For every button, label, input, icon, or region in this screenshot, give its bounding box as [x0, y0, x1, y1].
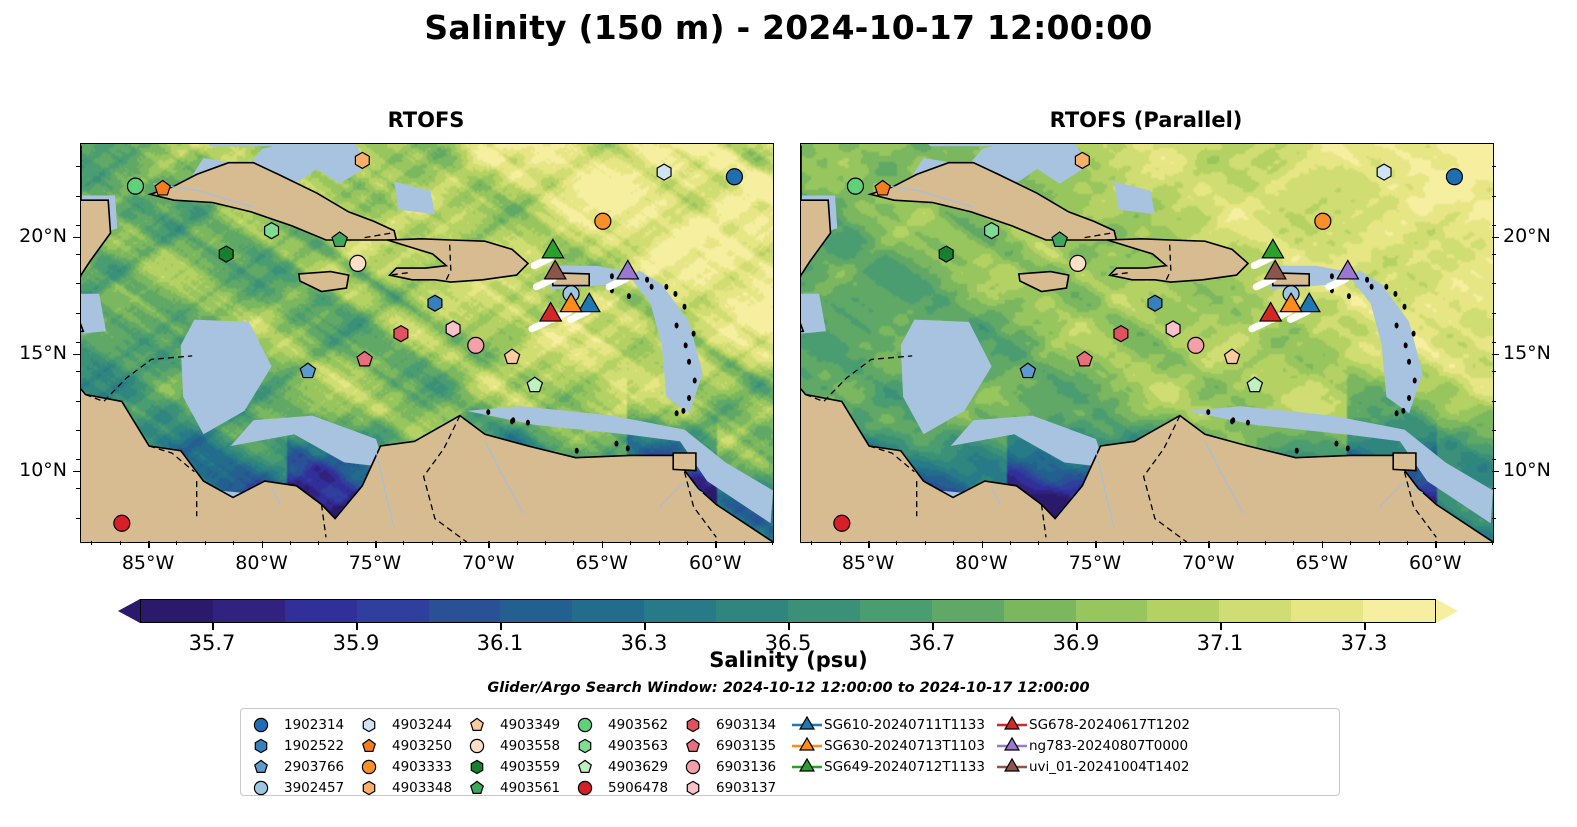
- legend-column-2: 4903349490355849035594903561: [466, 716, 574, 790]
- legend-label: 4903563: [608, 738, 668, 754]
- y-minor-tick: [76, 371, 80, 372]
- x-minor-tick: [982, 541, 983, 545]
- legend-label: 2903766: [284, 759, 344, 775]
- y-minor-tick: [76, 225, 80, 226]
- legend-label: 4903244: [392, 717, 452, 733]
- page-title: Salinity (150 m) - 2024-10-17 12:00:00: [0, 8, 1577, 47]
- argo-float-marker[interactable]: [114, 515, 130, 531]
- legend-item[interactable]: 4903563: [574, 737, 682, 755]
- colorbar-band-3: [357, 600, 429, 622]
- search-window-caption: Glider/Argo Search Window: 2024-10-12 12…: [0, 680, 1577, 696]
- y-tick: [73, 471, 80, 473]
- x-minor-tick: [1180, 541, 1181, 545]
- colorbar-band-2: [285, 600, 357, 622]
- legend-item[interactable]: 6903134: [682, 716, 790, 734]
- x-minor-tick: [811, 541, 812, 545]
- colorbar-band-1: [213, 600, 285, 622]
- glider-track: [532, 321, 549, 329]
- colorbar[interactable]: 35.735.936.136.336.536.736.937.137.3: [118, 599, 1458, 623]
- island-marker: [692, 331, 696, 337]
- island-marker: [1295, 448, 1299, 454]
- y-minor-tick: [1492, 166, 1496, 167]
- land-polygon: [299, 272, 349, 292]
- argo-float-marker[interactable]: [595, 213, 611, 229]
- legend-label: 4903250: [392, 738, 452, 754]
- map-overlay: [801, 144, 1493, 542]
- x-minor-tick: [91, 541, 92, 545]
- argo-legend-icon: [358, 737, 392, 755]
- island-marker: [693, 377, 697, 383]
- x-tick-label: 75°W: [1069, 552, 1121, 574]
- land-polygon: [801, 146, 831, 378]
- y-tick: [73, 354, 80, 356]
- argo-legend-icon: [574, 779, 608, 797]
- argo-float-marker[interactable]: [350, 255, 366, 271]
- y-minor-tick: [76, 488, 80, 489]
- island-marker: [683, 304, 687, 310]
- x-minor-tick: [205, 541, 206, 545]
- island-marker: [1395, 322, 1399, 328]
- legend-item[interactable]: 4903348: [358, 779, 466, 797]
- y-tick-label: 15°N: [1503, 342, 1551, 364]
- argo-float-marker[interactable]: [1114, 326, 1128, 342]
- shelf-polygon: [801, 294, 826, 334]
- argo-float-marker[interactable]: [1188, 337, 1204, 353]
- y-minor-tick: [1492, 459, 1496, 460]
- island-marker: [1230, 418, 1234, 424]
- shelf-polygon: [231, 416, 385, 468]
- argo-legend-icon: [682, 758, 716, 776]
- shelf-polygon: [951, 416, 1105, 468]
- legend-item[interactable]: 4903250: [358, 737, 466, 755]
- argo-legend-icon: [358, 758, 392, 776]
- x-minor-tick: [318, 541, 319, 545]
- glider-marker[interactable]: [540, 303, 561, 321]
- argo-legend-icon: [250, 716, 284, 734]
- x-tick-label: 60°W: [689, 552, 741, 574]
- y-minor-tick: [1492, 313, 1496, 314]
- y-tick: [1492, 471, 1499, 473]
- legend-label: 6903136: [716, 759, 776, 775]
- y-minor-tick: [76, 166, 80, 167]
- legend-label: 1902314: [284, 717, 344, 733]
- x-minor-tick: [630, 541, 631, 545]
- argo-float-marker[interactable]: [875, 180, 890, 194]
- glider-marker[interactable]: [617, 260, 638, 278]
- y-tick-label: 15°N: [19, 342, 67, 364]
- x-minor-tick: [403, 541, 404, 545]
- legend-label: 4903562: [608, 717, 668, 733]
- x-minor-tick: [953, 541, 954, 545]
- x-minor-tick: [545, 541, 546, 545]
- colorbar-band-17: [1363, 600, 1435, 622]
- legend-label: SG630-20240713T1103: [824, 738, 985, 754]
- panel-title-rtofs: RTOFS: [80, 108, 772, 132]
- x-minor-tick: [896, 541, 897, 545]
- island-marker: [1407, 359, 1411, 365]
- legend-label: 4903558: [500, 738, 560, 754]
- argo-float-marker[interactable]: [394, 326, 408, 342]
- y-minor-tick: [76, 283, 80, 284]
- glider-marker[interactable]: [1299, 293, 1320, 311]
- legend-column-4: 6903134690313569031366903137: [682, 716, 790, 790]
- argo-float-marker[interactable]: [1148, 295, 1162, 311]
- island-marker: [1346, 445, 1350, 451]
- shelf-polygon: [1350, 270, 1423, 413]
- island-marker: [681, 408, 685, 414]
- argo-float-marker[interactable]: [726, 169, 742, 185]
- island-marker: [645, 277, 649, 283]
- x-tick-label: 60°W: [1409, 552, 1461, 574]
- legend-item[interactable]: SG610-20240711T1133: [790, 716, 995, 734]
- colorbar-band-15: [1219, 600, 1291, 622]
- island-marker: [1401, 408, 1405, 414]
- x-minor-tick: [1265, 541, 1266, 545]
- x-minor-tick: [1322, 541, 1323, 545]
- argo-float-marker[interactable]: [1446, 169, 1462, 185]
- legend-item[interactable]: 2903766: [250, 758, 358, 776]
- x-minor-tick: [347, 541, 348, 545]
- argo-float-marker[interactable]: [1020, 363, 1035, 377]
- y-minor-tick: [76, 342, 80, 343]
- island-marker: [614, 441, 618, 447]
- map-panel-rtofs-parallel[interactable]: [800, 143, 1494, 543]
- y-minor-tick: [76, 313, 80, 314]
- argo-float-marker[interactable]: [1377, 164, 1391, 180]
- legend-label: uvi_01-20241004T1402: [1029, 759, 1189, 775]
- colorbar-tick: [1364, 623, 1366, 630]
- land-polygon: [673, 453, 696, 471]
- island-marker: [1395, 410, 1399, 416]
- legend-label: 4903333: [392, 759, 452, 775]
- argo-float-marker[interactable]: [1166, 321, 1180, 337]
- y-minor-tick: [76, 518, 80, 519]
- argo-float-marker[interactable]: [1224, 349, 1239, 363]
- colorbar-band-11: [932, 600, 1004, 622]
- x-minor-tick: [1152, 541, 1153, 545]
- argo-legend-icon: [358, 779, 392, 797]
- argo-float-marker[interactable]: [446, 321, 460, 337]
- legend-item[interactable]: 1902314: [250, 716, 358, 734]
- legend-item[interactable]: 6903136: [682, 758, 790, 776]
- x-minor-tick: [375, 541, 376, 545]
- x-minor-tick: [659, 541, 660, 545]
- x-minor-tick: [1123, 541, 1124, 545]
- x-minor-tick: [290, 541, 291, 545]
- legend-label: 4903561: [500, 780, 560, 796]
- island-marker: [610, 273, 614, 279]
- x-minor-tick: [1010, 541, 1011, 545]
- island-marker: [1412, 331, 1416, 337]
- legend-label: SG678-20240617T1202: [1029, 717, 1190, 733]
- colorbar-tick: [500, 623, 502, 630]
- legend-item[interactable]: 4903562: [574, 716, 682, 734]
- legend-item[interactable]: 4903561: [466, 779, 574, 797]
- y-minor-tick: [76, 430, 80, 431]
- glider-legend-icon: [995, 716, 1029, 734]
- argo-float-marker[interactable]: [504, 349, 519, 363]
- x-minor-tick: [176, 541, 177, 545]
- island-marker: [1347, 293, 1351, 299]
- legend-item[interactable]: 4903244: [358, 716, 466, 734]
- glider-track: [570, 312, 587, 320]
- colorbar-tick: [932, 623, 934, 630]
- y-minor-tick: [76, 254, 80, 255]
- argo-float-marker[interactable]: [834, 515, 850, 531]
- panel-title-rtofs-parallel: RTOFS (Parallel): [800, 108, 1492, 132]
- y-minor-tick: [1492, 371, 1496, 372]
- y-tick-label: 10°N: [1503, 459, 1551, 481]
- legend-column-6: SG678-20240617T1202ng783-20240807T0000uv…: [995, 716, 1200, 790]
- colorbar-extend-max-arrow: [1436, 599, 1458, 623]
- x-minor-tick: [1208, 541, 1209, 545]
- glider-marker[interactable]: [1260, 303, 1281, 321]
- x-tick-label: 65°W: [576, 552, 628, 574]
- y-minor-tick: [1492, 225, 1496, 226]
- x-minor-tick: [233, 541, 234, 545]
- island-marker: [575, 448, 579, 454]
- x-minor-tick: [573, 541, 574, 545]
- argo-float-marker[interactable]: [300, 363, 315, 377]
- argo-legend-icon: [682, 716, 716, 734]
- y-tick-label: 20°N: [1503, 225, 1551, 247]
- island-marker: [664, 284, 668, 290]
- y-minor-tick: [1492, 342, 1496, 343]
- argo-float-marker[interactable]: [127, 178, 143, 194]
- glider-legend-icon: [995, 758, 1029, 776]
- argo-legend-icon: [682, 779, 716, 797]
- y-minor-tick: [76, 401, 80, 402]
- y-minor-tick: [1492, 196, 1496, 197]
- argo-legend-icon: [574, 737, 608, 755]
- y-tick-label: 20°N: [19, 225, 67, 247]
- map-panel-rtofs[interactable]: [80, 143, 774, 543]
- shelf-polygon: [1114, 182, 1155, 215]
- colorbar-band-0: [141, 600, 213, 622]
- argo-float-marker[interactable]: [1075, 152, 1089, 168]
- x-minor-tick: [602, 541, 603, 545]
- glider-marker[interactable]: [1337, 260, 1358, 278]
- argo-legend-icon: [682, 737, 716, 755]
- argo-legend-icon: [358, 716, 392, 734]
- y-minor-tick: [1492, 283, 1496, 284]
- x-minor-tick: [744, 541, 745, 545]
- island-marker: [1407, 395, 1411, 401]
- shelf-polygon: [81, 294, 106, 334]
- x-minor-tick: [460, 541, 461, 545]
- legend-label: SG610-20240711T1133: [824, 717, 985, 733]
- y-minor-tick: [76, 459, 80, 460]
- island-marker: [684, 342, 688, 348]
- colorbar-tick: [644, 623, 646, 630]
- legend-item[interactable]: uvi_01-20241004T1402: [995, 758, 1200, 776]
- shelf-polygon: [901, 320, 992, 435]
- argo-float-marker[interactable]: [657, 164, 671, 180]
- x-minor-tick: [715, 541, 716, 545]
- legend-label: 5906478: [608, 780, 668, 796]
- legend-label: SG649-20240712T1133: [824, 759, 985, 775]
- legend-column-1: 4903244490325049033334903348: [358, 716, 466, 790]
- argo-float-marker[interactable]: [1247, 377, 1262, 391]
- glider-legend-icon: [995, 737, 1029, 755]
- island-marker: [1365, 277, 1369, 283]
- island-marker: [626, 445, 630, 451]
- glider-marker[interactable]: [1262, 239, 1283, 257]
- colorbar-tick: [788, 623, 790, 630]
- glider-marker[interactable]: [542, 239, 563, 257]
- island-marker: [687, 359, 691, 365]
- island-marker: [1384, 284, 1388, 290]
- x-minor-tick: [1407, 541, 1408, 545]
- y-minor-tick: [1492, 254, 1496, 255]
- island-marker: [675, 322, 679, 328]
- x-minor-tick: [1350, 541, 1351, 545]
- y-minor-tick: [76, 196, 80, 197]
- colorbar-band-7: [644, 600, 716, 622]
- x-tick-label: 75°W: [349, 552, 401, 574]
- y-tick-label: 10°N: [19, 459, 67, 481]
- legend-label: ng783-20240807T0000: [1029, 738, 1188, 754]
- legend-label: 4903349: [500, 717, 560, 733]
- x-minor-tick: [432, 541, 433, 545]
- argo-float-marker[interactable]: [1315, 213, 1331, 229]
- colorbar-band-9: [788, 600, 860, 622]
- x-minor-tick: [840, 541, 841, 545]
- argo-float-marker[interactable]: [219, 246, 233, 262]
- argo-float-marker[interactable]: [468, 337, 484, 353]
- glider-track: [1254, 258, 1271, 266]
- island-marker: [687, 395, 691, 401]
- x-minor-tick: [488, 541, 489, 545]
- x-minor-tick: [1095, 541, 1096, 545]
- x-minor-tick: [517, 541, 518, 545]
- argo-legend-icon: [466, 758, 500, 776]
- legend-item[interactable]: SG678-20240617T1202: [995, 716, 1200, 734]
- argo-float-marker[interactable]: [939, 246, 953, 262]
- argo-legend-icon: [574, 716, 608, 734]
- y-minor-tick: [1492, 430, 1496, 431]
- argo-float-marker[interactable]: [527, 377, 542, 391]
- x-minor-tick: [925, 541, 926, 545]
- argo-float-marker[interactable]: [355, 152, 369, 168]
- argo-float-marker[interactable]: [1077, 351, 1092, 365]
- legend-label: 4903629: [608, 759, 668, 775]
- argo-float-marker[interactable]: [847, 178, 863, 194]
- island-marker: [526, 420, 530, 426]
- x-minor-tick: [1237, 541, 1238, 545]
- x-minor-tick: [868, 541, 869, 545]
- argo-float-marker[interactable]: [357, 351, 372, 365]
- shelf-polygon: [630, 270, 703, 413]
- legend-item[interactable]: 4903349: [466, 716, 574, 734]
- argo-float-marker[interactable]: [155, 180, 170, 194]
- glider-legend-icon: [790, 737, 824, 755]
- legend-item[interactable]: SG649-20240712T1133: [790, 758, 995, 776]
- x-minor-tick: [1464, 541, 1465, 545]
- colorbar-band-4: [429, 600, 501, 622]
- island-marker: [675, 410, 679, 416]
- colorbar-tick: [1076, 623, 1078, 630]
- legend-label: 6903137: [716, 780, 776, 796]
- colorbar-band-5: [500, 600, 572, 622]
- island-marker: [1246, 420, 1250, 426]
- legend-item[interactable]: 3902457: [250, 779, 358, 797]
- legend-item[interactable]: ng783-20240807T0000: [995, 737, 1200, 755]
- argo-float-marker[interactable]: [428, 295, 442, 311]
- y-tick: [1492, 237, 1499, 239]
- island-marker: [673, 291, 677, 297]
- x-tick-label: 80°W: [955, 552, 1007, 574]
- x-tick-label: 70°W: [462, 552, 514, 574]
- legend-item[interactable]: 1902522: [250, 737, 358, 755]
- land-polygon: [387, 239, 528, 282]
- country-border: [86, 356, 193, 402]
- shelf-polygon: [394, 182, 435, 215]
- argo-legend-icon: [250, 737, 284, 755]
- legend-item[interactable]: 4903629: [574, 758, 682, 776]
- x-tick-label: 85°W: [122, 552, 174, 574]
- legend-label: 6903135: [716, 738, 776, 754]
- colorbar-band-13: [1076, 600, 1148, 622]
- map-overlay: [81, 144, 773, 542]
- island-marker: [510, 418, 514, 424]
- colorbar-tick: [1220, 623, 1222, 630]
- argo-legend-icon: [250, 779, 284, 797]
- legend-column-5: SG610-20240711T1133SG630-20240713T1103SG…: [790, 716, 995, 790]
- x-minor-tick: [1293, 541, 1294, 545]
- colorbar-band-12: [1004, 600, 1076, 622]
- x-tick-label: 65°W: [1296, 552, 1348, 574]
- argo-legend-icon: [250, 758, 284, 776]
- land-polygon: [1107, 239, 1248, 282]
- legend[interactable]: 1902314190252229037663902457490324449032…: [240, 708, 1340, 796]
- argo-float-marker[interactable]: [985, 223, 999, 239]
- argo-float-marker[interactable]: [265, 223, 279, 239]
- y-minor-tick: [1492, 488, 1496, 489]
- legend-label: 6903134: [716, 717, 776, 733]
- island-marker: [1404, 342, 1408, 348]
- colorbar-tick: [356, 623, 358, 630]
- legend-item[interactable]: 4903333: [358, 758, 466, 776]
- island-marker: [1403, 304, 1407, 310]
- legend-item[interactable]: 5906478: [574, 779, 682, 797]
- legend-item[interactable]: 6903137: [682, 779, 790, 797]
- legend-column-3: 4903562490356349036295906478: [574, 716, 682, 790]
- colorbar-extend-min-arrow: [118, 599, 140, 623]
- shelf-polygon: [181, 320, 272, 435]
- legend-item[interactable]: SG630-20240713T1103: [790, 737, 995, 755]
- land-polygon: [1393, 453, 1416, 471]
- land-polygon: [81, 146, 111, 378]
- island-marker: [1206, 409, 1210, 415]
- colorbar-tick: [212, 623, 214, 630]
- x-minor-tick: [772, 541, 773, 545]
- legend-item[interactable]: 4903559: [466, 758, 574, 776]
- colorbar-title: Salinity (psu): [0, 648, 1577, 672]
- legend-item[interactable]: 4903558: [466, 737, 574, 755]
- colorbar-band-8: [716, 600, 788, 622]
- argo-float-marker[interactable]: [1070, 255, 1086, 271]
- glider-legend-icon: [790, 758, 824, 776]
- x-minor-tick: [1492, 541, 1493, 545]
- glider-track: [1290, 312, 1307, 320]
- colorbar-band-14: [1147, 600, 1219, 622]
- glider-marker[interactable]: [579, 293, 600, 311]
- y-minor-tick: [1492, 518, 1496, 519]
- legend-item[interactable]: 6903135: [682, 737, 790, 755]
- island-marker: [1370, 284, 1374, 290]
- y-tick: [1492, 354, 1499, 356]
